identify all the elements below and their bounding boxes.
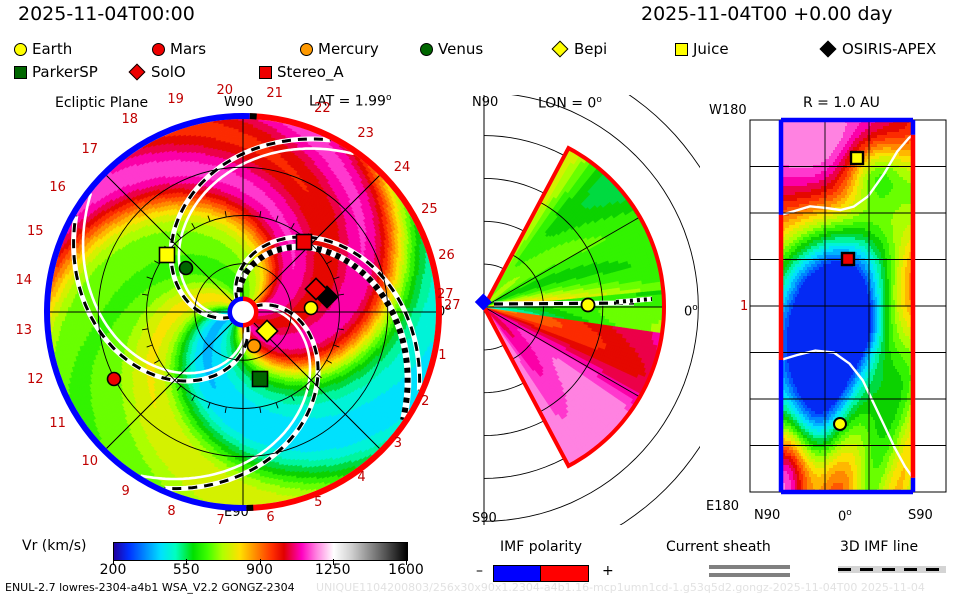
colorbar-label: Vr (km/s)	[22, 538, 86, 554]
ecliptic-sector-label: 15	[27, 224, 44, 239]
ecliptic-sector-label: 2	[421, 394, 429, 409]
legend-item-bepi: Bepi	[551, 40, 607, 58]
ecliptic-marker-juice	[160, 248, 175, 263]
ecliptic-sector-label: 11	[49, 416, 66, 431]
imf-polarity-minus: –	[476, 563, 483, 579]
legend-item-label: Earth	[32, 40, 72, 58]
meridional-plane-plot	[460, 95, 700, 525]
imf-negative-swatch	[493, 565, 542, 582]
left-timestamp: 2025-11-04T00:00	[18, 3, 195, 25]
ecliptic-sector-label: 3	[394, 436, 402, 451]
current-sheath-swatch-top	[709, 565, 790, 569]
circle-marker-icon	[152, 43, 165, 56]
ecliptic-sector-label: 23	[357, 126, 374, 141]
model-credit: ENUL-2.7 lowres-2304-a4b1 WSA_V2.2 GONGZ…	[5, 581, 295, 594]
ecliptic-marker-venus	[180, 262, 193, 275]
legend-item-earth: Earth	[14, 40, 72, 58]
ecliptic-sector-label: 17	[81, 142, 98, 157]
legend-item-mercury: Mercury	[300, 40, 379, 58]
ecliptic-sector-label: 27	[444, 298, 461, 313]
circle-marker-icon	[300, 43, 313, 56]
ecliptic-sector-label: 22	[314, 101, 331, 116]
au-map-marker-earth	[834, 418, 846, 430]
legend-item-label: Venus	[438, 40, 483, 58]
ecliptic-sector-label: 1	[438, 348, 446, 363]
legend-item-label: Mars	[170, 40, 206, 58]
ecliptic-marker-mercury	[248, 340, 261, 353]
ecliptic-marker-stereo-a	[297, 235, 312, 250]
ecliptic-marker-parkersp	[253, 372, 268, 387]
imf-polarity-title: IMF polarity	[500, 539, 582, 555]
diamond-marker-icon	[820, 41, 837, 58]
legend-item-parkersp: ParkerSP	[14, 63, 98, 81]
au-map-marker-juice	[851, 152, 863, 164]
square-marker-icon	[259, 66, 272, 79]
legend-item-label: OSIRIS-APEX	[842, 40, 936, 58]
ecliptic-sector-label: 10	[81, 454, 98, 469]
colorbar-tick-label: 550	[166, 562, 206, 578]
legend-item-label: SolO	[151, 63, 186, 81]
right-timestamp: 2025-11-04T00 +0.00 day	[641, 3, 892, 25]
ecliptic-sector-label: 4	[357, 470, 365, 485]
legend-item-label: Stereo_A	[277, 63, 344, 81]
ecliptic-sector-label: 14	[15, 273, 32, 288]
imf-polarity-plus: +	[602, 563, 614, 579]
ecliptic-sector-label: 19	[167, 92, 184, 107]
legend-item-label: Bepi	[574, 40, 607, 58]
imf-line-title: 3D IMF line	[840, 539, 918, 555]
legend-item-mars: Mars	[152, 40, 206, 58]
ecliptic-sector-label: 26	[438, 248, 455, 263]
legend-item-label: Mercury	[318, 40, 379, 58]
legend-item-osiris-apex: OSIRIS-APEX	[819, 40, 936, 58]
colorbar-tick-label: 200	[93, 562, 133, 578]
legend-item-label: Juice	[693, 40, 729, 58]
ecliptic-sector-label: 20	[216, 83, 233, 98]
au-map-plot	[700, 100, 960, 520]
colorbar-tick-label: 900	[240, 562, 280, 578]
ecliptic-sector-label: 18	[122, 112, 139, 127]
square-marker-icon	[14, 66, 27, 79]
colorbar-gradient	[113, 542, 408, 561]
au-map-marker-stereo-a	[842, 253, 854, 265]
ecliptic-marker-earth	[305, 302, 318, 315]
circle-marker-icon	[420, 43, 433, 56]
diamond-marker-icon	[129, 64, 146, 81]
run-id-watermark: UNIQUE1104200803/256x30x90x1.2304-a4b1.1…	[316, 581, 925, 594]
square-marker-icon	[675, 43, 688, 56]
ecliptic-sector-label: 6	[266, 510, 274, 525]
colorbar-tick-label: 1600	[386, 562, 426, 578]
current-sheath-title: Current sheath	[666, 539, 771, 555]
legend-item-solo: SolO	[128, 63, 186, 81]
ecliptic-marker-mars	[108, 373, 121, 386]
ecliptic-sector-label: 25	[421, 202, 438, 217]
ecliptic-sector-label: 16	[49, 180, 66, 195]
circle-marker-icon	[14, 43, 27, 56]
legend-item-juice: Juice	[675, 40, 729, 58]
legend-item-venus: Venus	[420, 40, 483, 58]
imf-positive-swatch	[540, 565, 589, 582]
diamond-marker-icon	[552, 41, 569, 58]
legend-item-stereo-a: Stereo_A	[259, 63, 344, 81]
ecliptic-sector-label: 13	[15, 323, 32, 338]
ecliptic-sector-label: 7	[216, 513, 224, 528]
ecliptic-sector-label: 21	[266, 86, 283, 101]
meridional-marker-earth	[582, 299, 595, 312]
current-sheath-swatch-bottom	[709, 573, 790, 577]
ecliptic-sector-label: 5	[314, 495, 322, 510]
imf-line-swatch	[838, 562, 948, 578]
ecliptic-sector-label: 8	[167, 504, 175, 519]
ecliptic-sector-label: 9	[122, 484, 130, 499]
ecliptic-sector-label: 24	[394, 160, 411, 175]
legend-item-label: ParkerSP	[32, 63, 98, 81]
ecliptic-sector-label: 12	[27, 372, 44, 387]
colorbar-tick-label: 1250	[313, 562, 353, 578]
ecliptic-plane-plot	[0, 95, 460, 525]
